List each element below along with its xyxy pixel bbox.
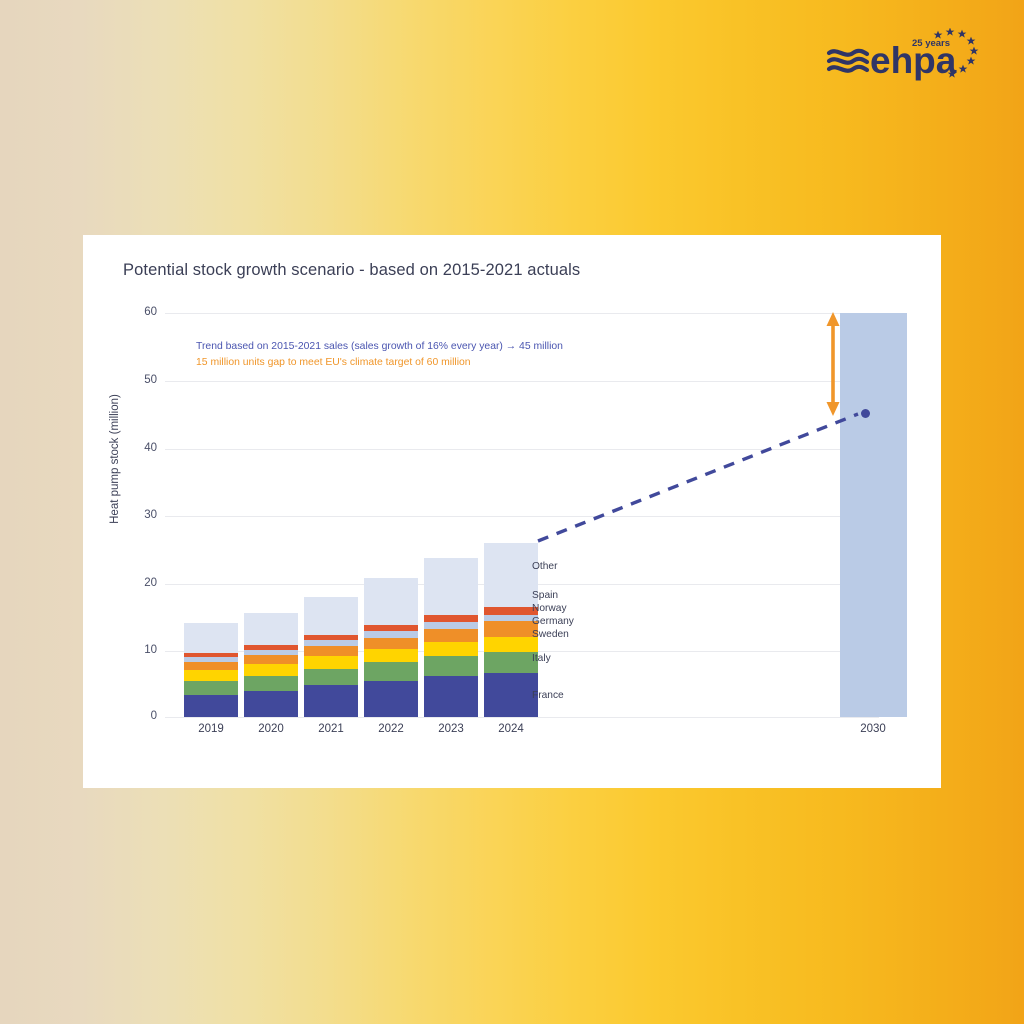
waves-icon	[829, 51, 867, 71]
x-tick-2030: 2030	[838, 723, 908, 735]
screenshot-root: ehpa 25 years Potential stock growth sce…	[0, 0, 1024, 1024]
gap-arrow-icon	[827, 312, 840, 416]
ehpa-logo: ehpa 25 years	[826, 28, 986, 84]
plot-area: 60 50 40 30 20 10 0 Heat pump stock (mil…	[83, 235, 941, 788]
logo-anniversary: 25 years	[912, 38, 950, 49]
chart-card: Potential stock growth scenario - based …	[83, 235, 941, 788]
series-label-italy: Italy	[532, 653, 551, 664]
gap-arrow-svg	[83, 235, 941, 788]
series-label-spain: Spain	[532, 590, 558, 601]
series-label-france: France	[532, 690, 564, 701]
series-label-germany: Germany	[532, 616, 574, 627]
x-tick-2024: 2024	[476, 723, 546, 735]
series-label-other: Other	[532, 561, 557, 572]
ehpa-logo-svg: ehpa 25 years	[826, 28, 986, 84]
series-label-sweden: Sweden	[532, 629, 569, 640]
series-label-norway: Norway	[532, 603, 567, 614]
